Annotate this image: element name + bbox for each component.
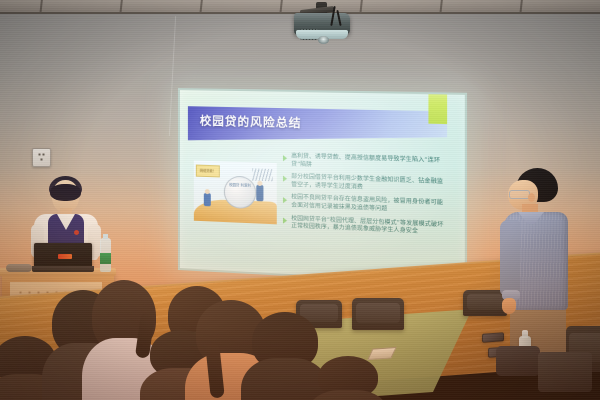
water-bottle (100, 238, 111, 272)
wall-socket-icon (32, 148, 51, 167)
presentation-photo-scene: 校园贷的风险总结 校园贷 利滚利 网络贷款！ 高利贷、诱导贷款、提高授信额度易导… (0, 0, 600, 400)
office-chair (352, 298, 404, 330)
slide-illustration: 校园贷 利滚利 网络贷款！ (194, 160, 277, 224)
slide-surface: 校园贷的风险总结 校园贷 利滚利 网络贷款！ 高利贷、诱导贷款、提高授信额度易导… (178, 88, 467, 286)
projector (292, 2, 358, 48)
illustration-figure (256, 185, 263, 202)
slide-title: 校园贷的风险总结 (200, 112, 302, 131)
projection-screen: 校园贷的风险总结 校园贷 利滚利 网络贷款！ 高利贷、诱导贷款、提高授信额度易导… (178, 88, 467, 286)
slide-bullet-text: 高利贷、诱导贷款、提高授信额度易导致学生陷入“连环贷”陷阱 (291, 153, 449, 174)
laptop-lid (34, 243, 92, 267)
slide-bullet-text: 校园不良网贷平台存在信息盗用风险，被冒用身份者可能会面对信用记录被抹黑及追债等问… (291, 195, 449, 217)
bullet-triangle-icon (283, 217, 287, 223)
slide-bullet-text: 校园网贷平台“校园代理、层层分包模式”等发展模式破坏正常校园秩序，暴力追债现象威… (291, 215, 449, 238)
illustration-figure (204, 193, 211, 206)
slide-bullet-item: 校园不良网贷平台存在信息盗用风险，被冒用身份者可能会面对信用记录被抹黑及追债等问… (283, 194, 449, 216)
smartphone (482, 332, 504, 343)
laptop-base (32, 266, 94, 272)
presenter-badge (74, 230, 79, 235)
attendee-hand (502, 298, 516, 314)
attendee-ear (528, 193, 535, 202)
slide-bullet-item: 部分校园借贷平台利用少数学生金融知识匮乏、钻金融监管空子，诱导学生过度消费 (283, 174, 449, 196)
slide-accent-block (428, 94, 447, 124)
bullet-triangle-icon (283, 176, 287, 182)
audience-body (241, 358, 328, 400)
male-attendee (498, 168, 582, 360)
podium-accessory (6, 264, 32, 272)
audience-body (308, 390, 387, 400)
snowball-label: 校园贷 利滚利 (228, 183, 252, 189)
projector-lens-icon (318, 36, 329, 44)
slide-bullet-item: 校园网贷平台“校园代理、层层分包模式”等发展模式破坏正常校园秩序，暴力追债现象威… (283, 215, 449, 238)
slide-bullet-item: 高利贷、诱导贷款、提高授信额度易导致学生陷入“连环贷”陷阱 (283, 153, 449, 174)
illustration-hatching (252, 168, 272, 181)
glasses-icon (509, 190, 530, 199)
bag (496, 346, 540, 376)
slide-bullet-text: 部分校园借贷平台利用少数学生金融知识匮乏、钻金融监管空子，诱导学生过度消费 (291, 174, 449, 195)
slide-bullet-list: 高利贷、诱导贷款、提高授信额度易导致学生陷入“连环贷”陷阱 部分校园借贷平台利用… (283, 153, 449, 243)
bag (538, 352, 592, 392)
laptop-logo-icon (58, 254, 72, 259)
illustration-figure-head (257, 181, 262, 186)
presenter-laptop (32, 243, 94, 273)
audience-member (252, 312, 318, 400)
illustration-figure-head (205, 189, 210, 194)
bullet-triangle-icon (283, 155, 287, 161)
bullet-triangle-icon (283, 197, 287, 203)
audience-member (318, 356, 378, 400)
presenter-hair-front (50, 184, 81, 201)
snowball-icon (224, 176, 256, 210)
attendee-sleeve (500, 220, 520, 296)
illustration-tag: 网络贷款！ (196, 165, 220, 178)
